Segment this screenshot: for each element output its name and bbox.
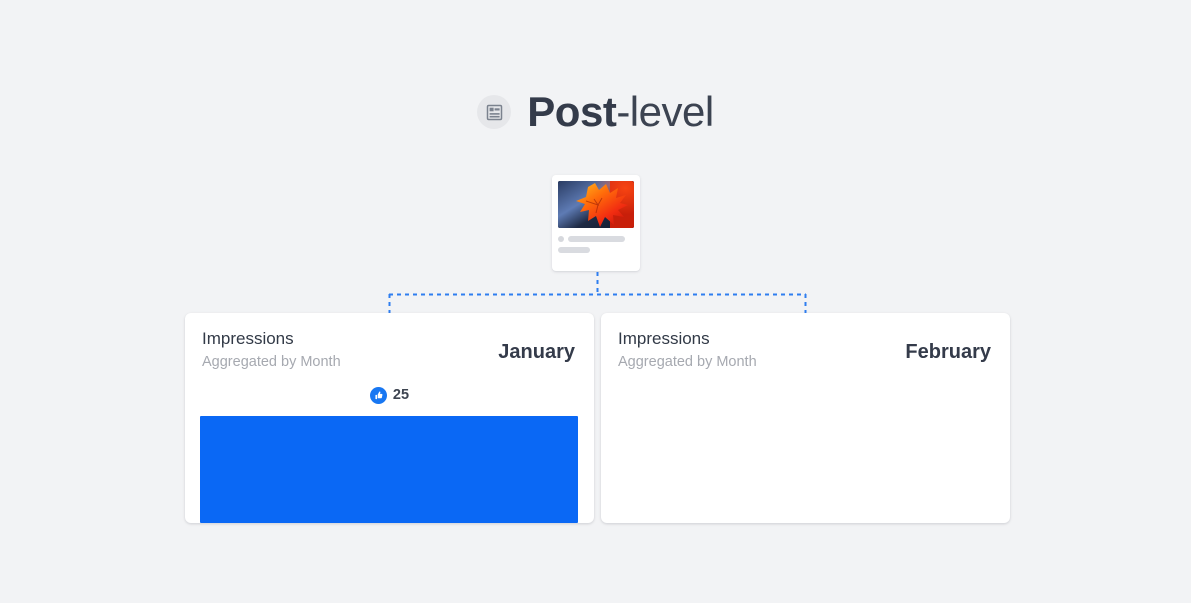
metric-subtitle: Aggregated by Month (618, 352, 757, 372)
card-header: Impressions Aggregated by Month January (185, 313, 594, 372)
post-thumbnail-image (558, 181, 634, 228)
page-title-strong: Post (527, 88, 616, 135)
page-title-light: -level (616, 88, 713, 135)
post-text-placeholder (558, 236, 634, 253)
post-placeholder-line-short (558, 247, 590, 253)
card-header: Impressions Aggregated by Month February (601, 313, 1010, 372)
post-placeholder-dot (558, 236, 564, 242)
metric-card-february[interactable]: Impressions Aggregated by Month February (601, 313, 1010, 523)
post-placeholder-row (558, 247, 634, 253)
reaction-summary: 25 (185, 387, 594, 404)
metric-subtitle: Aggregated by Month (202, 352, 341, 372)
post-placeholder-line-long (568, 236, 625, 242)
thumbs-up-icon (370, 387, 387, 404)
post-placeholder-row (558, 236, 634, 242)
reaction-value: 25 (393, 387, 409, 404)
metric-name: Impressions (618, 328, 757, 349)
page-header: Post-level (0, 88, 1191, 136)
card-header-left: Impressions Aggregated by Month (202, 328, 341, 372)
post-layout-icon (477, 95, 511, 129)
period-label: January (498, 339, 575, 365)
post-thumbnail-card[interactable] (552, 175, 640, 271)
metric-name: Impressions (202, 328, 341, 349)
impressions-bar-january (200, 416, 578, 523)
period-label: February (905, 339, 991, 365)
card-header-left: Impressions Aggregated by Month (618, 328, 757, 372)
page-title: Post-level (527, 88, 713, 136)
